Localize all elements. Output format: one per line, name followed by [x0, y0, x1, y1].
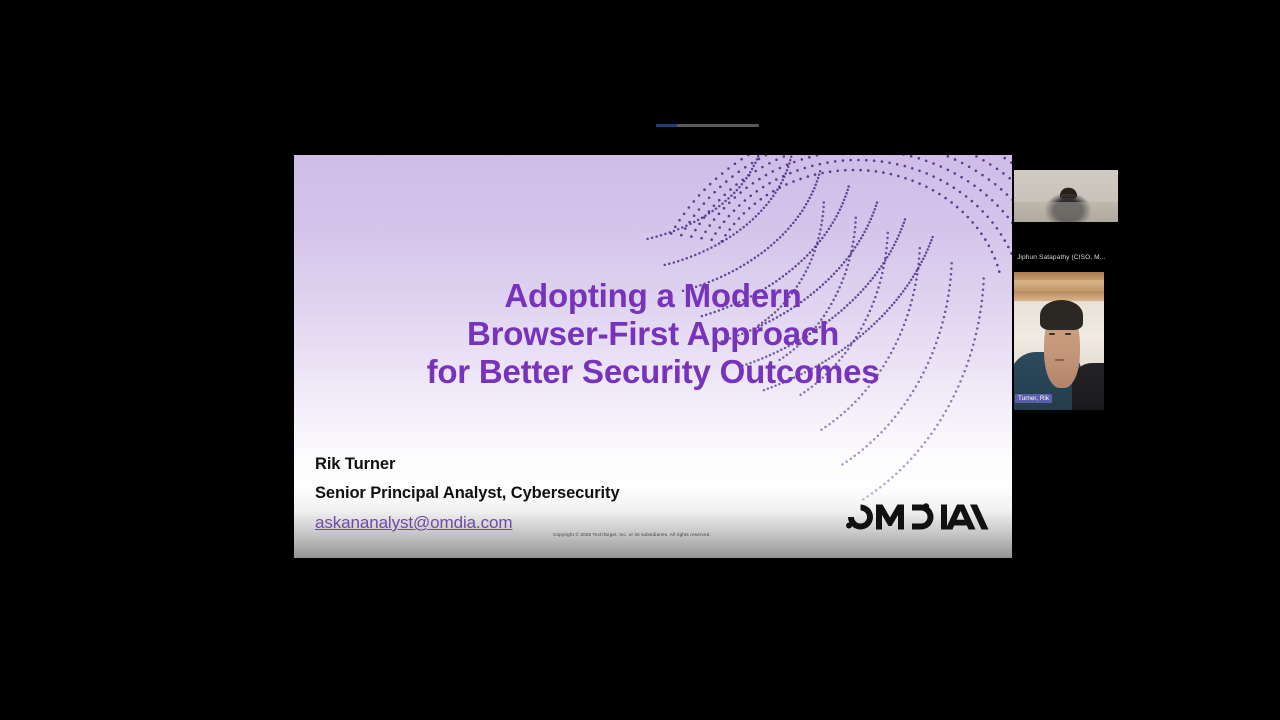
participant-2-hair [1040, 300, 1083, 330]
participant-video-tile-1[interactable] [1014, 170, 1118, 222]
participant-2-mouth [1055, 359, 1064, 361]
video-conference-screen: Adopting a Modern Browser-First Approach… [0, 0, 1280, 720]
copyright-notice: Copyright © 2025 TechTarget, Inc. or its… [553, 532, 711, 537]
slide-title: Adopting a Modern Browser-First Approach… [294, 277, 1012, 391]
participant-1-name: Jiphun Satapathy (CISO, M... [1017, 254, 1117, 261]
participant-2-video [1014, 272, 1104, 410]
playback-progress-fill [656, 124, 677, 127]
background-wall [1014, 202, 1118, 222]
participant-2-eye-right [1065, 333, 1071, 335]
playback-progress-bar[interactable] [656, 124, 759, 127]
speaker-email-link[interactable]: askananalyst@omdia.com [315, 513, 512, 533]
participant-2-eye-left [1049, 333, 1055, 335]
participant-1-video [1014, 170, 1118, 222]
speaker-role: Senior Principal Analyst, Cybersecurity [315, 484, 775, 503]
participant-video-tile-2[interactable] [1014, 272, 1104, 410]
speaker-name: Rik Turner [315, 455, 775, 474]
participant-2-name-badge: Turner, Rik [1015, 394, 1052, 403]
ceiling-beam-top [1014, 272, 1104, 280]
omdia-logo [842, 500, 990, 534]
speaker-info: Rik Turner Senior Principal Analyst, Cyb… [315, 455, 775, 533]
glasses-icon [1061, 194, 1076, 197]
presentation-slide[interactable]: Adopting a Modern Browser-First Approach… [294, 155, 1012, 558]
title-line-3: for Better Security Outcomes [294, 353, 1012, 391]
title-line-1: Adopting a Modern [294, 277, 1012, 315]
title-line-2: Browser-First Approach [294, 315, 1012, 353]
